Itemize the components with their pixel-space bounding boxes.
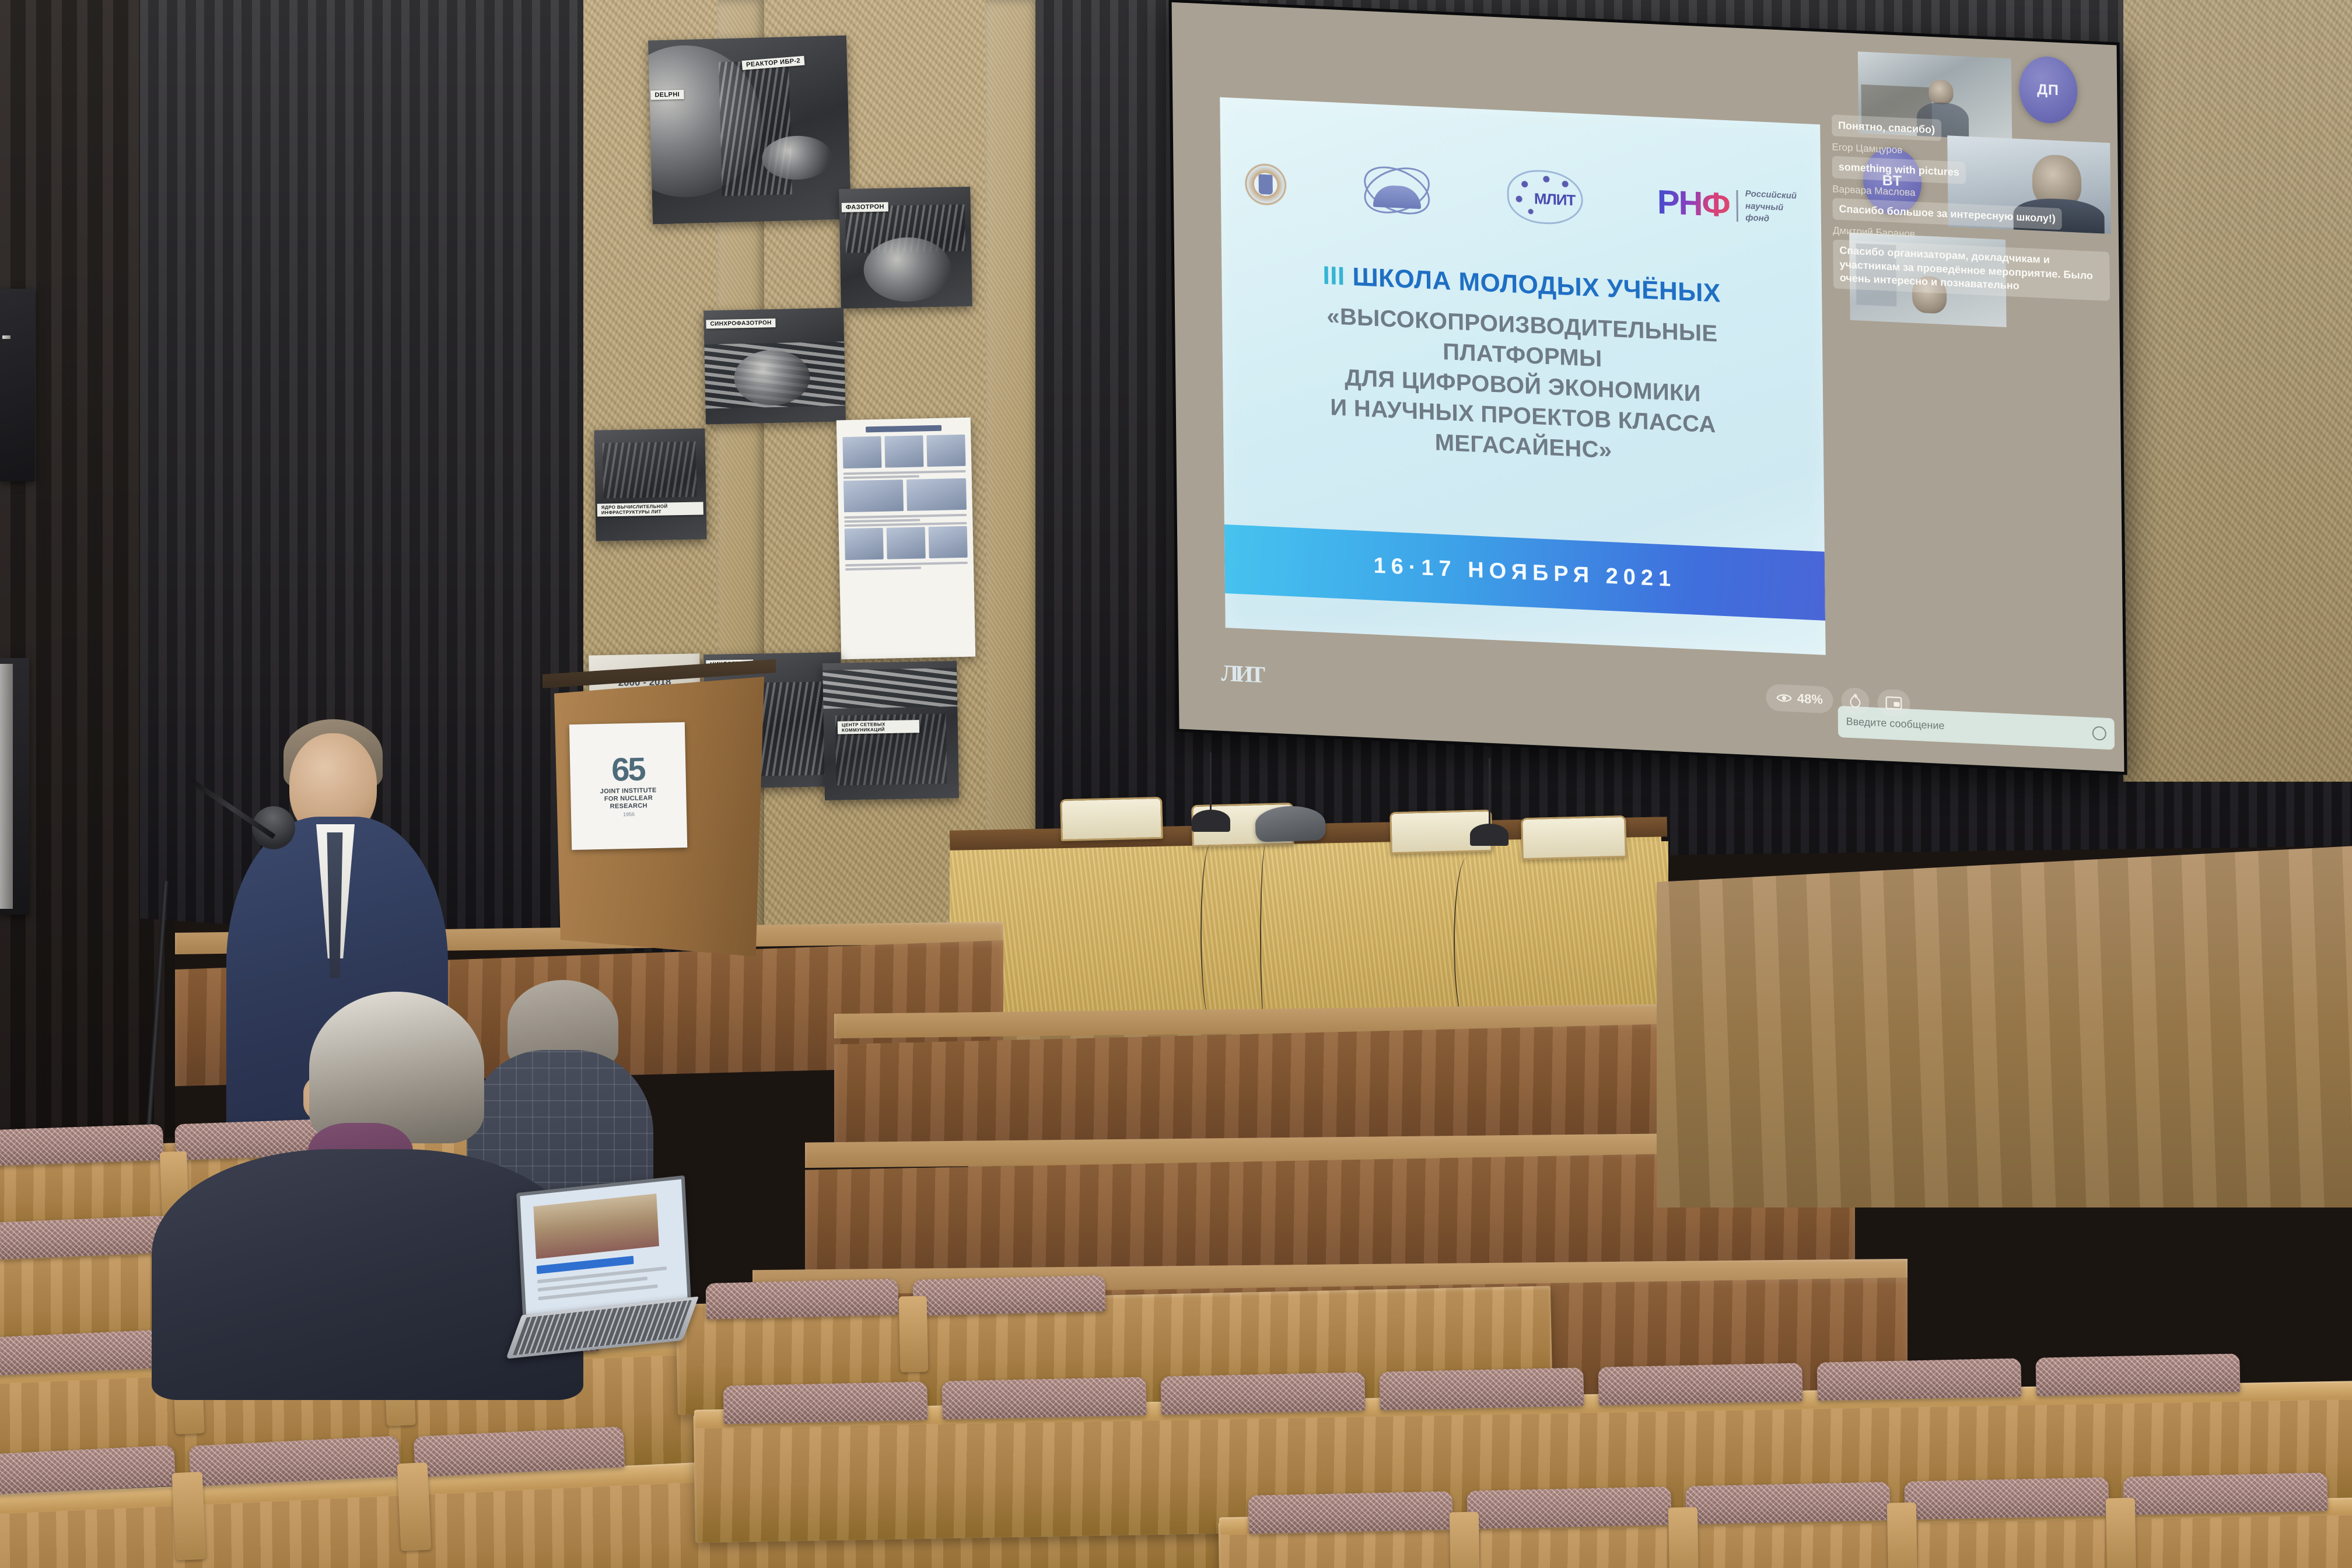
podium-plaque-number: 65 xyxy=(611,755,645,785)
flame-icon xyxy=(1850,694,1861,709)
chat-bubble: Спасибо организаторам, докладчикам и уча… xyxy=(1833,240,2110,302)
chat-message: Дмитрий Баранов Спасибо организаторам, д… xyxy=(1833,225,2110,301)
poster-delphi-label: DELPHI xyxy=(650,90,684,100)
equipment-highlight xyxy=(2,335,10,339)
avatar-dp[interactable]: ДП xyxy=(2018,55,2078,125)
rnf-subtitle: Российский научный фонд xyxy=(1745,188,1797,226)
poster-synchrophasotron-label: СИНХРОФАЗОТРОН xyxy=(706,318,776,328)
bench-cushion-right-8 xyxy=(1817,1358,2021,1401)
mlit-logo-text: МЛИТ xyxy=(1534,190,1576,209)
rnf-sub-2: научный xyxy=(1745,201,1784,212)
equipment-panel-upper xyxy=(0,289,35,481)
bench-armrest-rf-1 xyxy=(1450,1512,1480,1568)
picture-in-picture-icon xyxy=(1886,696,1902,710)
eye-icon xyxy=(1777,692,1792,703)
rnf-logo: РНФ Российский научный фонд xyxy=(1657,183,1797,228)
bench-cushion-right-7 xyxy=(1598,1363,1803,1405)
slide-logo-row: МЛИТ РНФ Российский научный фонд xyxy=(1244,130,1797,261)
conference-hall-photo: DELPHI РЕАКТОР ИБР-2 ФАЗОТРОН СИНХРОФАЗО… xyxy=(0,0,2352,1568)
chat-panel: Понятно, спасибо) Егор Цамцуров somethin… xyxy=(1829,112,2119,750)
podium-plaque-year: 1956 xyxy=(623,811,635,817)
avatar-dp-initials: ДП xyxy=(2037,81,2059,99)
bench-cushion-right-4 xyxy=(942,1377,1146,1419)
equipment-lower-highlight xyxy=(0,664,13,909)
chat-bubble: Понятно, спасибо) xyxy=(1832,114,1941,141)
laptop-screen[interactable] xyxy=(516,1175,691,1318)
stone-wall-far-right xyxy=(2123,0,2352,782)
bench-cushion-2-1 xyxy=(0,1216,170,1261)
presidium-chair-4 xyxy=(1521,815,1627,860)
presidium-mic-stem-left xyxy=(1210,752,1212,811)
mic-cable-left xyxy=(1200,845,1220,1020)
mic-cable-right xyxy=(1454,857,1480,1027)
presidium-microphone-left xyxy=(1192,810,1230,832)
projected-video-conference: ДП ВТ xyxy=(1172,2,2124,772)
laptop-browser-photo xyxy=(534,1193,659,1258)
podium-plaque-line-2: FOR NUCLEAR xyxy=(600,794,657,803)
poster-network-center-label: ЦЕНТР СЕТЕВЫХ КОММУНИКАЦИЙ xyxy=(838,720,919,734)
bench-cushion-rf-4 xyxy=(1904,1477,2109,1520)
poster-computing-core: ЯДРО ВЫЧИСЛИТЕЛЬНОЙ ИНФРАСТРУКТУРЫ ЛИТ xyxy=(594,428,706,541)
bench-cushion-right-9 xyxy=(2035,1353,2240,1396)
projection-screen: ДП ВТ xyxy=(1168,0,2127,775)
bench-armrest-front-2 xyxy=(397,1462,432,1551)
podium-plaque-text: JOINT INSTITUTE FOR NUCLEAR RESEARCH xyxy=(600,787,657,811)
bench-armrest-rf-2 xyxy=(1668,1507,1699,1568)
podium-jinr-plaque: 65 JOINT INSTITUTE FOR NUCLEAR RESEARCH … xyxy=(569,722,687,850)
bench-armrest-front-1 xyxy=(172,1472,206,1560)
bench-cushion-right-2 xyxy=(912,1275,1105,1316)
rnf-sub-3: фонд xyxy=(1745,212,1769,223)
slide-date-text: 16·17 НОЯБРЯ 2021 xyxy=(1373,553,1676,592)
bench-cushion-back-1 xyxy=(0,1124,164,1166)
poster-network-center: ЦЕНТР СЕТЕВЫХ КОММУНИКАЦИЙ xyxy=(822,661,959,800)
jinr-atom-logo xyxy=(1362,163,1431,217)
attendee-laptop xyxy=(508,1184,694,1353)
presentation-slide: МЛИТ РНФ Российский научный фонд xyxy=(1220,97,1825,655)
lit-brand-glyph: ЛИТ xyxy=(1221,659,1262,688)
mlit-logo: МЛИТ xyxy=(1507,169,1583,226)
stone-pier-right xyxy=(986,0,1038,910)
right-floor-area xyxy=(1657,846,2352,1207)
mic-cable-center xyxy=(1260,845,1272,1031)
viewer-percentage-pill[interactable]: 48% xyxy=(1766,684,1834,714)
presidium-chair-1 xyxy=(1060,797,1163,841)
bench-cushion-right-1 xyxy=(705,1279,898,1319)
flame-button[interactable] xyxy=(1842,688,1870,716)
viewer-percentage-label: 48% xyxy=(1797,691,1823,708)
rnf-divider xyxy=(1737,190,1739,222)
poster-scientific-conference xyxy=(836,418,976,660)
bench-cushion-rf-3 xyxy=(1685,1482,1890,1524)
bench-armrest-rf-3 xyxy=(1887,1503,1917,1568)
presidium-microphone-right xyxy=(1470,824,1508,846)
slide-title-numeral: III xyxy=(1322,261,1345,291)
chat-bubble: something with pictures xyxy=(1832,156,1966,184)
chat-message: Варвара Маслова Спасибо большое за интер… xyxy=(1832,183,2109,232)
slide-date-banner: 16·17 НОЯБРЯ 2021 xyxy=(1224,524,1825,621)
jinr-wreath-logo xyxy=(1244,162,1287,206)
chat-message: Егор Цамцуров something with pictures xyxy=(1832,142,2109,191)
slide-subtitle: «ВЫСОКОПРОИЗВОДИТЕЛЬНЫЕ ПЛАТФОРМЫ ДЛЯ ЦИ… xyxy=(1246,297,1800,474)
attendee-1-hair xyxy=(309,992,484,1143)
podium-plaque-line-3: RESEARCH xyxy=(600,802,657,811)
pip-button[interactable] xyxy=(1878,689,1910,717)
poster-synchrophasotron: СИНХРОФАЗОТРОН xyxy=(703,308,846,425)
bench-armrest-rf-4 xyxy=(2106,1498,2136,1568)
bench-cushion-right-6 xyxy=(1379,1367,1584,1410)
slide-title-block: III ШКОЛА МОЛОДЫХ УЧЁНЫХ «ВЫСОКОПРОИЗВОД… xyxy=(1245,258,1800,474)
bench-cushion-rf-1 xyxy=(1248,1491,1452,1534)
poster-fazotron-label: ФАЗОТРОН xyxy=(842,202,888,212)
rnf-sub-1: Российский xyxy=(1745,189,1797,201)
bench-cushion-right-3 xyxy=(723,1381,928,1424)
slide-title-text: ШКОЛА МОЛОДЫХ УЧЁНЫХ xyxy=(1352,262,1721,308)
bench-armrest-right-1 xyxy=(899,1296,929,1373)
bench-cushion-rf-2 xyxy=(1466,1486,1671,1529)
poster-delphi: DELPHI РЕАКТОР ИБР-2 xyxy=(648,36,851,225)
presidium-mic-stem-right xyxy=(1489,758,1490,825)
poster-fazotron: ФАЗОТРОН xyxy=(839,187,972,309)
poster-computing-core-label: ЯДРО ВЫЧИСЛИТЕЛЬНОЙ ИНФРАСТРУКТУРЫ ЛИТ xyxy=(597,502,703,516)
bench-cushion-rf-5 xyxy=(2123,1472,2327,1515)
bench-cushion-right-5 xyxy=(1160,1372,1365,1415)
rnf-logo-mark: РНФ xyxy=(1657,183,1730,225)
player-controls: 48% xyxy=(1766,684,1911,717)
